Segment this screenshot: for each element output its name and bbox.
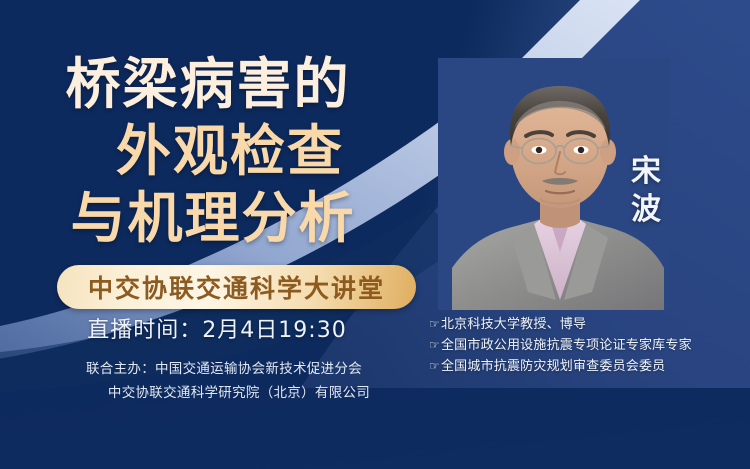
pointing-hand-icon: ☞ xyxy=(429,315,440,334)
pointing-hand-icon: ☞ xyxy=(429,336,440,355)
credential-item: ☞ 全国城市抗震防灾规划审查委员会委员 xyxy=(429,356,692,377)
organizer-line-1: 联合主办：中国交通运输协会新技术促进分会 xyxy=(0,358,448,382)
pointing-hand-icon: ☞ xyxy=(429,357,440,376)
series-banner: 中交协联交通科学大讲堂 xyxy=(57,265,416,309)
poster-title: 桥梁病害的 外观检查 与机理分析 xyxy=(0,57,430,246)
title-line-2: 外观检查 xyxy=(30,124,430,179)
credential-text: 北京科技大学教授、博导 xyxy=(441,314,586,335)
organizer-line-2: 中交协联交通科学研究院（北京）有限公司 xyxy=(0,382,448,406)
speaker-name-char-2: 波 xyxy=(620,191,672,229)
credential-text: 全国城市抗震防灾规划审查委员会委员 xyxy=(441,356,665,377)
title-line-1: 桥梁病害的 xyxy=(0,57,430,112)
credential-text: 全国市政公用设施抗震专项论证专家库专家 xyxy=(441,335,692,356)
live-time: 直播时间：2月4日19:30 xyxy=(0,312,434,344)
series-banner-label: 中交协联交通科学大讲堂 xyxy=(88,269,385,305)
organizers: 联合主办：中国交通运输协会新技术促进分会 中交协联交通科学研究院（北京）有限公司 xyxy=(0,358,448,405)
speaker-name: 宋 波 xyxy=(620,153,672,228)
credential-item: ☞ 北京科技大学教授、博导 xyxy=(429,314,692,335)
speaker-name-char-1: 宋 xyxy=(620,153,672,191)
title-line-3: 与机理分析 xyxy=(0,191,430,246)
webinar-poster: 桥梁病害的 外观检查 与机理分析 中交协联交通科学大讲堂 直播时间：2月4日19… xyxy=(0,0,750,469)
speaker-credentials: ☞ 北京科技大学教授、博导 ☞ 全国市政公用设施抗震专项论证专家库专家 ☞ 全国… xyxy=(429,314,692,377)
credential-item: ☞ 全国市政公用设施抗震专项论证专家库专家 xyxy=(429,335,692,356)
